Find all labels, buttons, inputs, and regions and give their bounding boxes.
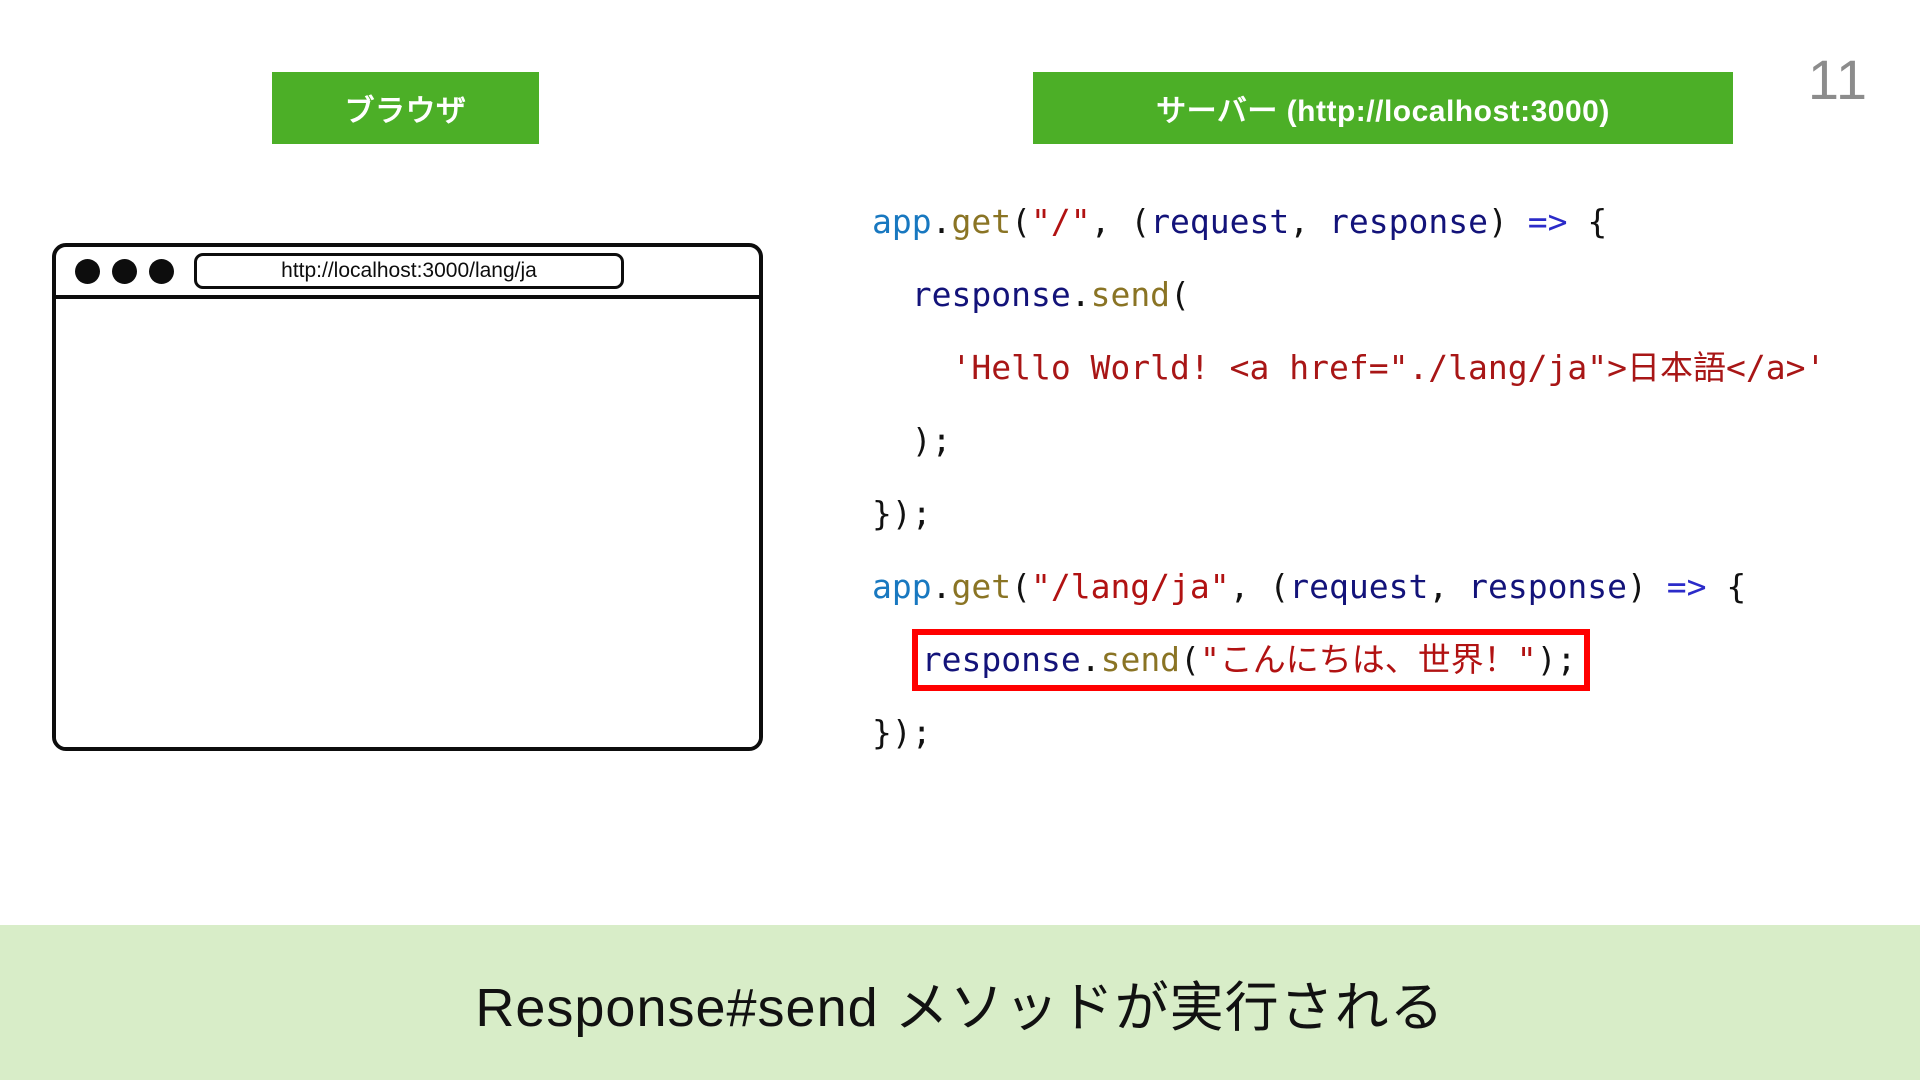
code-token: }); — [872, 713, 932, 752]
code-token: "/" — [1031, 202, 1091, 241]
code-token: 'Hello World! <a href="./lang/ja">日本語</a… — [951, 348, 1825, 387]
code-token: "こんにちは、世界！" — [1200, 640, 1537, 679]
code-token: { — [1707, 567, 1747, 606]
code-line: }); — [872, 696, 1882, 769]
code-token: response — [1468, 567, 1627, 606]
code-token: }); — [872, 494, 932, 533]
code-token: "/lang/ja" — [1031, 567, 1230, 606]
window-minimize-dot-icon[interactable] — [112, 259, 137, 284]
code-token: response — [1329, 202, 1488, 241]
code-token: ( — [1011, 567, 1031, 606]
code-token: ); — [872, 421, 951, 460]
code-token: , — [1289, 202, 1329, 241]
browser-window: http://localhost:3000/lang/ja — [52, 243, 763, 751]
code-token: => — [1528, 202, 1568, 241]
browser-viewport — [56, 299, 759, 747]
window-controls — [75, 259, 174, 284]
code-token: , ( — [1091, 202, 1151, 241]
code-token: app — [872, 202, 932, 241]
server-code-block: app.get("/", (request, response) => { re… — [872, 185, 1882, 769]
code-token: . — [1071, 275, 1091, 314]
code-indent — [872, 623, 912, 696]
window-close-dot-icon[interactable] — [75, 259, 100, 284]
browser-column-header-label: ブラウザ — [345, 86, 467, 130]
server-column-header-label: サーバー (http://localhost:3000) — [1156, 86, 1610, 130]
code-line-highlighted: response.send("こんにちは、世界！"); — [872, 623, 1882, 696]
code-token: send — [1101, 640, 1180, 679]
code-token: ( — [1180, 640, 1200, 679]
code-token: get — [951, 202, 1011, 241]
code-line: app.get("/", (request, response) => { — [872, 185, 1882, 258]
caption-bar: Response#send メソッドが実行される — [0, 925, 1920, 1080]
window-maximize-dot-icon[interactable] — [149, 259, 174, 284]
browser-column-header: ブラウザ — [272, 72, 539, 144]
code-token: response — [912, 275, 1071, 314]
server-column-header: サーバー (http://localhost:3000) — [1033, 72, 1733, 144]
code-token: . — [1081, 640, 1101, 679]
address-bar-value: http://localhost:3000/lang/ja — [281, 259, 537, 283]
code-line: ); — [872, 404, 1882, 477]
code-token: ) — [1627, 567, 1667, 606]
code-token: . — [932, 567, 952, 606]
code-line: app.get("/lang/ja", (request, response) … — [872, 550, 1882, 623]
browser-chrome: http://localhost:3000/lang/ja — [56, 247, 759, 299]
caption-text: Response#send メソッドが実行される — [475, 963, 1444, 1042]
code-token: get — [951, 567, 1011, 606]
code-line: 'Hello World! <a href="./lang/ja">日本語</a… — [872, 331, 1882, 404]
address-bar[interactable]: http://localhost:3000/lang/ja — [194, 253, 624, 289]
code-token: response — [922, 640, 1081, 679]
code-token: app — [872, 567, 932, 606]
code-token: ( — [1011, 202, 1031, 241]
code-token: , ( — [1230, 567, 1290, 606]
code-token: request — [1150, 202, 1289, 241]
code-token — [872, 275, 912, 314]
code-token: ( — [1170, 275, 1190, 314]
code-token: => — [1667, 567, 1707, 606]
code-token: request — [1289, 567, 1428, 606]
code-token — [872, 348, 951, 387]
code-line: response.send( — [872, 258, 1882, 331]
code-token: . — [932, 202, 952, 241]
code-token: send — [1091, 275, 1170, 314]
code-token: , — [1428, 567, 1468, 606]
page-number: 11 — [1808, 52, 1868, 108]
code-token: { — [1567, 202, 1607, 241]
highlight-box: response.send("こんにちは、世界！"); — [912, 629, 1591, 691]
code-token: ); — [1537, 640, 1577, 679]
code-line: }); — [872, 477, 1882, 550]
code-token: ) — [1488, 202, 1528, 241]
